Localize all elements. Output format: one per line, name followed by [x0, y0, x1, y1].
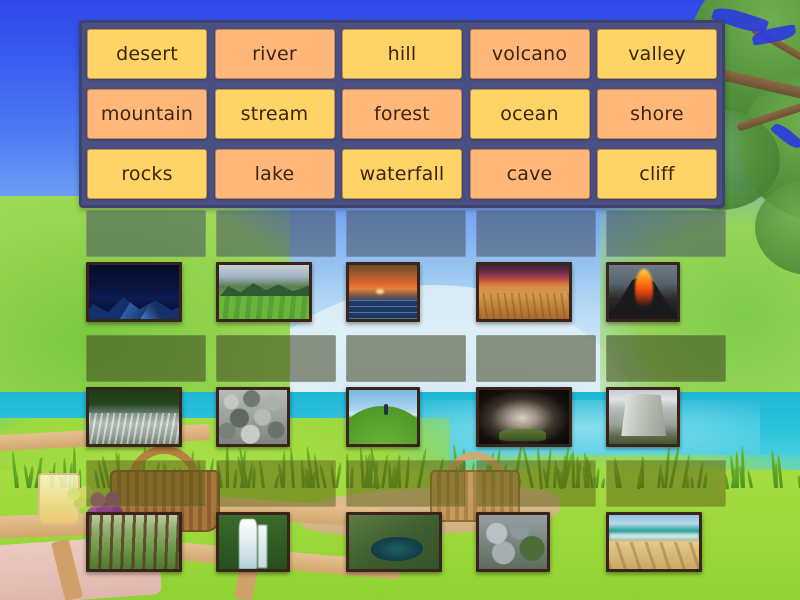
word-bank-row: desertriverhillvolcanovalley: [87, 29, 717, 79]
picture-art: [479, 265, 569, 319]
word-tile-shore[interactable]: shore: [597, 89, 717, 139]
rocky-river-photo[interactable]: [476, 512, 550, 572]
picture-art: [89, 515, 179, 569]
word-tile-waterfall[interactable]: waterfall: [342, 149, 462, 199]
answer-cell: [346, 210, 466, 335]
picture-art: [609, 390, 677, 444]
picture-art: [609, 515, 699, 569]
word-tile-river[interactable]: river: [215, 29, 335, 79]
picture-art: [479, 390, 569, 444]
ocean-sunset-photo[interactable]: [346, 262, 420, 322]
waterfall-photo[interactable]: [216, 512, 290, 572]
grass-blade: [733, 468, 736, 488]
grassy-hill-photo[interactable]: [346, 387, 420, 447]
word-tile-ocean[interactable]: ocean: [470, 89, 590, 139]
drop-zone[interactable]: [346, 335, 466, 382]
word-tile-mountain[interactable]: mountain: [87, 89, 207, 139]
answer-cell: [606, 460, 726, 585]
drop-zone[interactable]: [86, 210, 206, 257]
grass-blade: [14, 471, 18, 488]
green-valley-photo[interactable]: [216, 262, 312, 322]
picture-art: [609, 265, 677, 319]
activity-stage: desertriverhillvolcanovalleymountainstre…: [0, 0, 800, 600]
mountain-night-photo[interactable]: [86, 262, 182, 322]
answer-row: [86, 335, 726, 460]
drop-zone[interactable]: [476, 460, 596, 507]
volcano-eruption-photo[interactable]: [606, 262, 680, 322]
picture-art: [349, 515, 439, 569]
picture-art: [89, 390, 179, 444]
answer-cell: [606, 335, 726, 460]
word-tile-rocks[interactable]: rocks: [87, 149, 207, 199]
answer-cell: [346, 460, 466, 585]
answer-cell: [216, 210, 336, 335]
drop-zone[interactable]: [216, 335, 336, 382]
word-tile-valley[interactable]: valley: [597, 29, 717, 79]
drop-zone[interactable]: [346, 460, 466, 507]
word-tile-cliff[interactable]: cliff: [597, 149, 717, 199]
picture-art: [349, 390, 417, 444]
drop-zone[interactable]: [476, 210, 596, 257]
answer-cell: [606, 210, 726, 335]
picture-art: [89, 265, 179, 319]
picture-art: [479, 515, 547, 569]
forest-trees-photo[interactable]: [86, 512, 182, 572]
desert-dunes-photo[interactable]: [476, 262, 572, 322]
answer-cell: [86, 335, 206, 460]
cave-entrance-photo[interactable]: [476, 387, 572, 447]
picture-art: [219, 265, 309, 319]
answer-cell: [86, 460, 206, 585]
drop-zone[interactable]: [216, 210, 336, 257]
drop-zone[interactable]: [346, 210, 466, 257]
answer-row: [86, 460, 726, 585]
answer-grid: [86, 210, 726, 590]
stream-photo[interactable]: [86, 387, 182, 447]
word-bank-row: rockslakewaterfallcavecliff: [87, 149, 717, 199]
answer-cell: [346, 335, 466, 460]
answer-row: [86, 210, 726, 335]
grass-blade: [740, 446, 744, 488]
word-tile-cave[interactable]: cave: [470, 149, 590, 199]
picture-art: [219, 390, 287, 444]
answer-cell: [476, 335, 596, 460]
drop-zone[interactable]: [86, 335, 206, 382]
drop-zone[interactable]: [86, 460, 206, 507]
drop-zone[interactable]: [216, 460, 336, 507]
word-tile-volcano[interactable]: volcano: [470, 29, 590, 79]
word-bank-row: mountainstreamforestoceanshore: [87, 89, 717, 139]
drop-zone[interactable]: [606, 210, 726, 257]
word-bank-panel: desertriverhillvolcanovalleymountainstre…: [79, 20, 725, 208]
drop-zone[interactable]: [476, 335, 596, 382]
answer-cell: [216, 335, 336, 460]
drop-zone[interactable]: [606, 335, 726, 382]
answer-cell: [476, 210, 596, 335]
answer-cell: [476, 460, 596, 585]
grass-blade: [746, 470, 752, 488]
word-tile-desert[interactable]: desert: [87, 29, 207, 79]
white-cliff-photo[interactable]: [606, 387, 680, 447]
answer-cell: [86, 210, 206, 335]
river-rocks-photo[interactable]: [216, 387, 290, 447]
drop-zone[interactable]: [606, 460, 726, 507]
mountain-lake-photo[interactable]: [346, 512, 442, 572]
picture-art: [219, 515, 287, 569]
word-tile-hill[interactable]: hill: [342, 29, 462, 79]
answer-cell: [216, 460, 336, 585]
picture-art: [349, 265, 417, 319]
beach-shore-photo[interactable]: [606, 512, 702, 572]
word-tile-stream[interactable]: stream: [215, 89, 335, 139]
word-tile-lake[interactable]: lake: [215, 149, 335, 199]
word-tile-forest[interactable]: forest: [342, 89, 462, 139]
